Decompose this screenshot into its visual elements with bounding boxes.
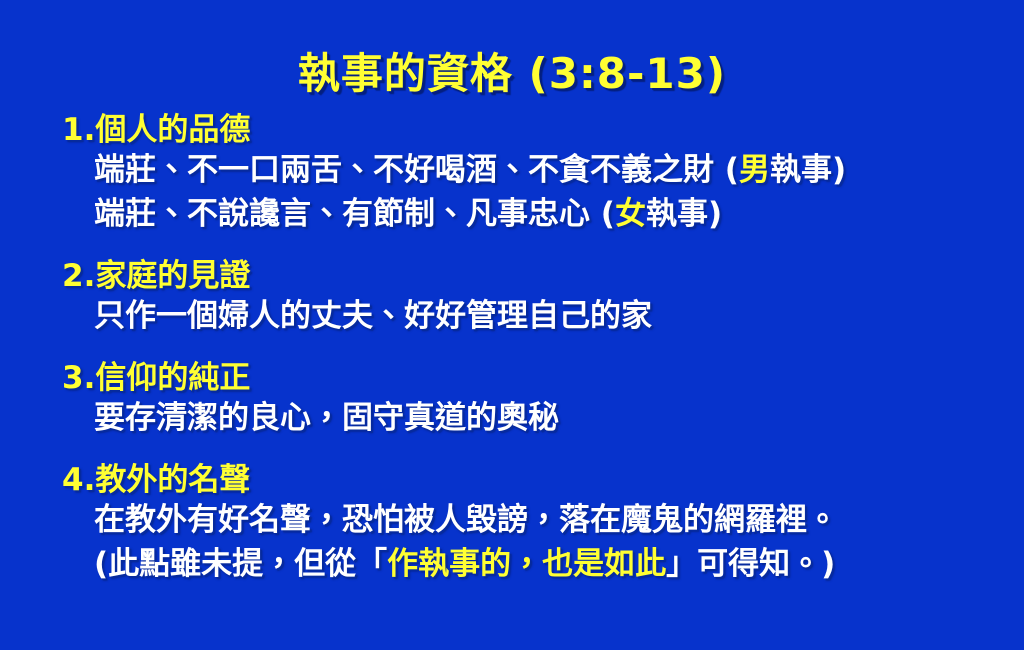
slide-section: 4.教外的名聲在教外有好名聲，恐怕被人毀謗，落在魔鬼的網羅裡。(此點雖未提，但從… — [0, 454, 1024, 586]
section-heading: 3.信仰的純正 — [0, 352, 1024, 396]
section-body-line: 在教外有好名聲，恐怕被人毀謗，落在魔鬼的網羅裡。 — [0, 498, 1024, 542]
body-text: (此點雖未提，但從「 — [94, 546, 387, 582]
section-heading: 4.教外的名聲 — [0, 454, 1024, 498]
section-heading: 1.個人的品德 — [0, 104, 1024, 148]
body-text: 端莊、不一口兩舌、不好喝酒、不貪不義之財 ( — [94, 152, 739, 188]
body-text: 執事) — [770, 152, 846, 188]
section-heading-text: 信仰的純正 — [95, 352, 250, 397]
body-text: 要存清潔的良心，固守真道的奧秘 — [94, 400, 559, 436]
highlighted-text: 女 — [615, 196, 646, 232]
slide-section: 2.家庭的見證只作一個婦人的丈夫、好好管理自己的家 — [0, 250, 1024, 338]
section-body-line: 端莊、不說讒言、有節制、凡事忠心 (女執事) — [0, 192, 1024, 236]
slide-title: 執事的資格 (3:8-13) — [0, 40, 1024, 101]
section-heading: 2.家庭的見證 — [0, 250, 1024, 294]
slide-canvas: 執事的資格 (3:8-13) 1.個人的品德端莊、不一口兩舌、不好喝酒、不貪不義… — [0, 0, 1024, 650]
slide-section: 3.信仰的純正要存清潔的良心，固守真道的奧秘 — [0, 352, 1024, 440]
slide-body: 1.個人的品德端莊、不一口兩舌、不好喝酒、不貪不義之財 (男執事)端莊、不說讒言… — [0, 104, 1024, 586]
section-heading-text: 家庭的見證 — [95, 250, 250, 295]
section-heading-text: 教外的名聲 — [95, 454, 250, 499]
body-text: 在教外有好名聲，恐怕被人毀謗，落在魔鬼的網羅裡。 — [94, 502, 838, 538]
section-body-line: 只作一個婦人的丈夫、好好管理自己的家 — [0, 294, 1024, 338]
section-number: 2. — [62, 258, 95, 294]
highlighted-text: 作執事的，也是如此 — [387, 546, 666, 582]
section-body-line: 要存清潔的良心，固守真道的奧秘 — [0, 396, 1024, 440]
body-text: 」可得知。) — [666, 546, 835, 582]
section-number: 4. — [62, 462, 95, 498]
section-number: 3. — [62, 360, 95, 396]
body-text: 端莊、不說讒言、有節制、凡事忠心 ( — [94, 196, 615, 232]
section-body-line: 端莊、不一口兩舌、不好喝酒、不貪不義之財 (男執事) — [0, 148, 1024, 192]
highlighted-text: 男 — [739, 152, 770, 188]
body-text: 只作一個婦人的丈夫、好好管理自己的家 — [94, 298, 652, 334]
section-number: 1. — [62, 112, 95, 148]
section-body-line: (此點雖未提，但從「作執事的，也是如此」可得知。) — [0, 542, 1024, 586]
body-text: 執事) — [646, 196, 722, 232]
section-heading-text: 個人的品德 — [95, 104, 250, 149]
slide-section: 1.個人的品德端莊、不一口兩舌、不好喝酒、不貪不義之財 (男執事)端莊、不說讒言… — [0, 104, 1024, 236]
